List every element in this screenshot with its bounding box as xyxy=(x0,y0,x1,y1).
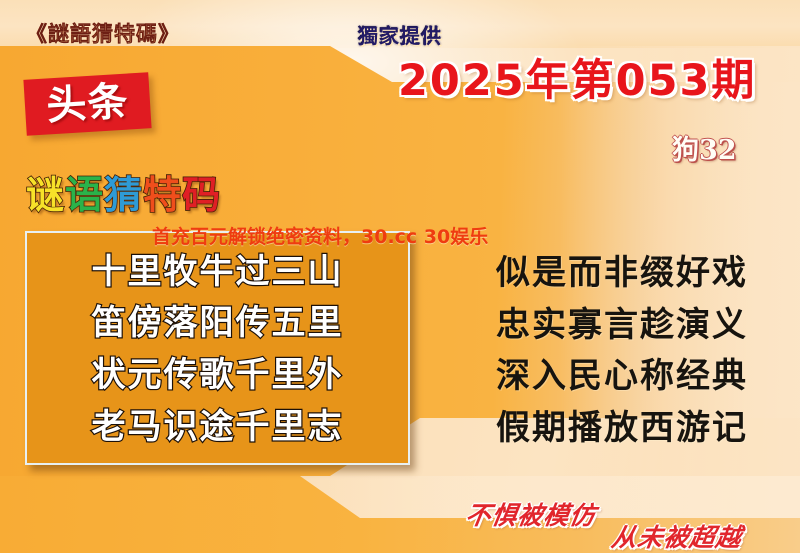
lottery-riddle-poster: 《謎語猜特碼》 獨家提供 2025年第053期 狗32 头条 谜语猜特码 首充百… xyxy=(0,0,800,553)
poem-line: 忠实寡言趁演义 xyxy=(452,300,792,352)
rainbow-char-3: 特 xyxy=(143,176,182,214)
rainbow-char-2: 猜 xyxy=(104,176,143,214)
issue-number: 2025年第053期 xyxy=(398,46,756,108)
rainbow-char-1: 语 xyxy=(65,176,104,214)
poster-title-traditional: 《謎語猜特碼》 xyxy=(26,18,180,48)
zodiac-number: 狗32 xyxy=(672,128,737,167)
riddle-line: 笛傍落阳传五里 xyxy=(27,298,408,350)
riddle-line: 状元传歌千里外 xyxy=(27,350,408,402)
exclusive-provider-label: 獨家提供 xyxy=(358,20,442,49)
slogan-left: 不惧被模仿 xyxy=(463,496,599,532)
poem-block: 似是而非缀好戏 忠实寡言趁演义 深入民心称经典 假期播放西游记 xyxy=(452,248,792,455)
rainbow-section-title: 谜语猜特码 xyxy=(26,176,221,214)
poem-line: 假期播放西游记 xyxy=(452,403,792,455)
riddle-box: 十里牧牛过三山 笛傍落阳传五里 状元传歌千里外 老马识途千里志 xyxy=(25,231,410,465)
riddle-line: 十里牧牛过三山 xyxy=(27,247,408,299)
riddle-line: 老马识途千里志 xyxy=(27,402,408,454)
rainbow-char-0: 谜 xyxy=(26,176,65,214)
headline-badge-label: 头条 xyxy=(45,82,129,127)
headline-badge: 头条 xyxy=(23,72,151,136)
poem-line: 似是而非缀好戏 xyxy=(452,248,792,300)
poem-line: 深入民心称经典 xyxy=(452,351,792,403)
rainbow-char-4: 码 xyxy=(182,176,221,214)
slogan-right: 从未被超越 xyxy=(609,518,745,553)
promo-text: 首充百元解锁绝密资料，30.cc 30娱乐 xyxy=(152,222,488,249)
